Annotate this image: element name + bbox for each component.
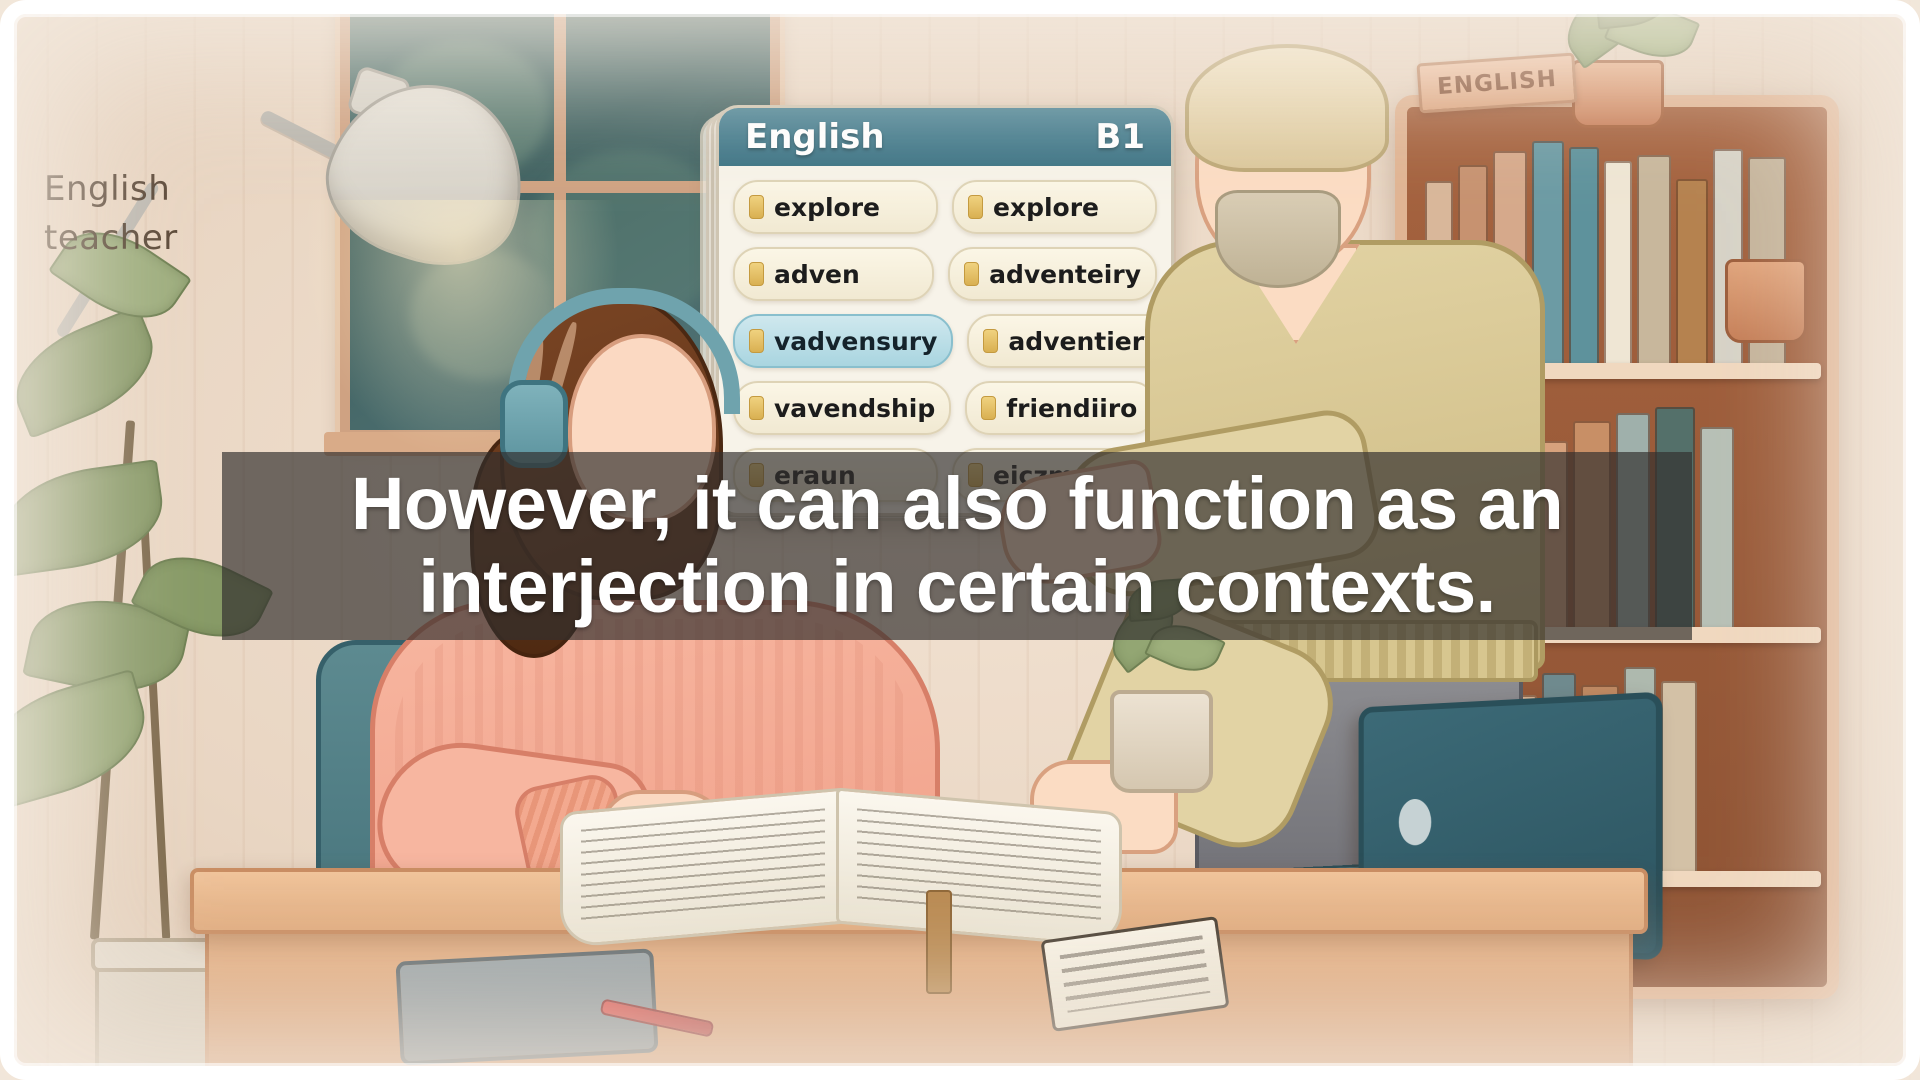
teacher-beard	[1215, 190, 1341, 288]
vocab-pill-right[interactable]: friendiiro	[965, 381, 1157, 435]
vocab-word-label: vadvensury	[774, 327, 937, 356]
shelf-jar	[1725, 259, 1807, 343]
vocab-marker-icon	[983, 329, 998, 353]
book-text-lines-right	[857, 808, 1101, 925]
vocab-marker-icon	[968, 195, 983, 219]
wall-label-line-1: English	[44, 165, 274, 214]
vocab-marker-icon	[749, 195, 764, 219]
open-book	[560, 800, 1120, 950]
book-bookmark	[926, 890, 952, 994]
wall-label: English teacher	[44, 165, 274, 264]
subtitle-line-1: However, it can also function as an	[351, 463, 1563, 546]
vocab-pill-right[interactable]: adventeiry	[948, 247, 1157, 301]
subtitle-overlay: However, it can also function as an inte…	[222, 452, 1692, 640]
card-text-lines	[1060, 935, 1211, 1012]
board-row: exploreexplore	[733, 180, 1157, 234]
vocab-marker-icon	[964, 262, 979, 286]
board-title: English	[745, 117, 885, 157]
vocab-word-label: adventiery	[1008, 327, 1160, 356]
vocab-marker-icon	[749, 262, 764, 286]
vocab-word-label: adven	[774, 260, 860, 289]
wall-label-line-2: teacher	[44, 214, 274, 263]
vocab-pill-right[interactable]: adventiery	[967, 314, 1174, 368]
book-page-right	[836, 787, 1122, 948]
vocab-pill-left[interactable]: vavendship	[733, 381, 951, 435]
laptop-logo-icon	[1399, 799, 1431, 846]
illustration-canvas: ENGLISH English teacher English B1 explo…	[0, 0, 1920, 1080]
vocab-marker-icon	[749, 396, 764, 420]
desk-plant-pot	[1110, 690, 1213, 793]
board-header: English B1	[719, 108, 1171, 166]
book-page-left	[560, 787, 846, 948]
board-row: vadvensuryadventiery	[733, 314, 1157, 368]
vocab-word-label: explore	[993, 193, 1099, 222]
vocab-pill-left[interactable]: adven	[733, 247, 934, 301]
subtitle-line-2: interjection in certain contexts.	[418, 546, 1495, 629]
board-level-badge: B1	[1095, 117, 1145, 157]
vocab-marker-icon	[749, 329, 764, 353]
vocab-pill-right[interactable]: explore	[952, 180, 1157, 234]
book-text-lines-left	[581, 808, 825, 925]
vocab-word-label: friendiiro	[1006, 394, 1137, 423]
board-row: advenadventeiry	[733, 247, 1157, 301]
english-sign-text: ENGLISH	[1436, 66, 1557, 100]
vocab-word-label: explore	[774, 193, 880, 222]
vocab-word-label: vavendship	[774, 394, 935, 423]
board-row: vavendshipfriendiiro	[733, 381, 1157, 435]
shelf-plant-pot	[1572, 60, 1664, 128]
vocab-pill-left[interactable]: explore	[733, 180, 938, 234]
vocab-marker-icon	[981, 396, 996, 420]
vocab-word-label: adventeiry	[989, 260, 1141, 289]
vocab-pill-left[interactable]: vadvensury	[733, 314, 953, 368]
teacher-hair	[1185, 44, 1389, 172]
